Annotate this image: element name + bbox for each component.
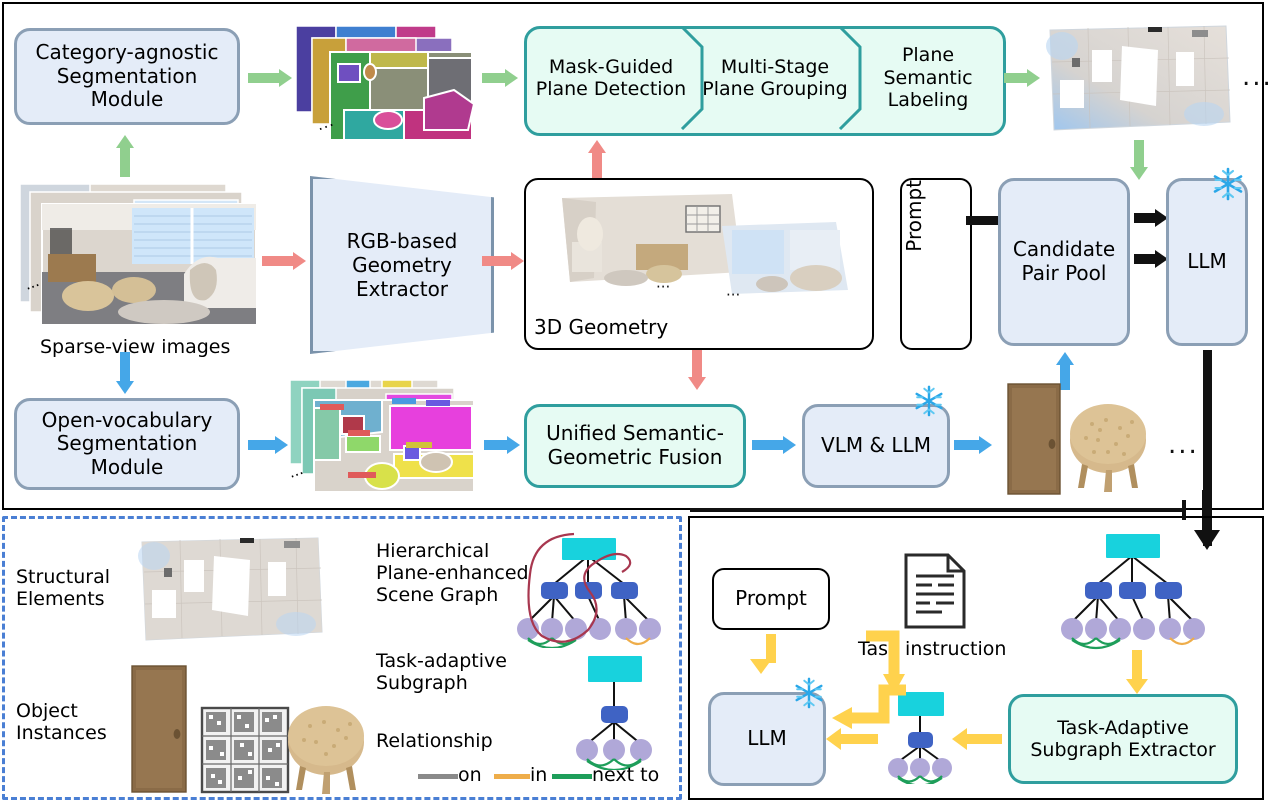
object-instances-legend-row: [128, 664, 368, 796]
arrow-green-down-1: [1130, 140, 1148, 180]
arrow-blue-right-2: [484, 436, 520, 454]
snowflake-icon-llm-top: [1210, 166, 1246, 206]
sparse-view-images-label: Sparse-view images: [40, 336, 230, 358]
arrow-red-up-1: [588, 140, 606, 178]
arrow-blue-right-3: [752, 436, 796, 454]
ellipsis-object-instances: ...: [1168, 432, 1199, 458]
relationship-name-in: in: [530, 764, 547, 786]
object-instances-label: Object Instances: [16, 700, 107, 744]
arrow-green-right-3: [1004, 69, 1040, 87]
arrow-blue-down-1: [116, 352, 134, 394]
prompt-label-top: Prompt: [902, 180, 926, 252]
unified-semantic-geometric-fusion[interactable]: Unified Semantic- Geometric Fusion: [524, 404, 746, 488]
relationship-name-on: on: [458, 764, 482, 786]
prompt-box-bottom[interactable]: Prompt: [712, 568, 830, 630]
scene-graph-figure-bottom: [1058, 528, 1228, 650]
arrow-green-right-1: [248, 69, 292, 87]
structural-plane-pointcloud-top: [1044, 22, 1234, 136]
arrow-yellow-left-2: [826, 728, 878, 750]
ellipsis-top-right: ...: [1242, 64, 1268, 90]
arrow-red-down-1: [688, 350, 706, 390]
arrow-red-right-2: [482, 252, 524, 270]
arrow-red-right-1: [262, 252, 306, 270]
document-icon: [902, 552, 968, 630]
snowflake-icon-vlm-llm: [912, 384, 946, 422]
task-adaptive-subgraph-extractor[interactable]: Task-Adaptive Subgraph Extractor: [1008, 694, 1238, 784]
arrow-blue-right-4: [954, 436, 992, 454]
connector-bracket-tick: [1182, 500, 1186, 520]
structural-elements-pointcloud: [136, 534, 326, 646]
stage-multi-stage-plane-grouping[interactable]: Multi-Stage Plane Grouping: [696, 26, 854, 130]
relationship-swatch-next-to: [552, 774, 592, 779]
svg-text:···: ···: [726, 286, 740, 302]
rgb-based-geometry-extractor[interactable]: RGB-based Geometry Extractor: [310, 176, 494, 354]
plane-pipeline-group: Mask-Guided Plane Detection Multi-Stage …: [524, 26, 1000, 130]
connector-bracket-horizontal: [690, 508, 1186, 512]
arrow-green-right-2: [482, 69, 518, 87]
arrow-blue-right-1: [248, 436, 288, 454]
sparse-view-image-stack: ···: [14, 178, 264, 328]
relationship-label: Relationship: [376, 730, 493, 752]
hierarchical-scene-graph-figure: [514, 528, 684, 648]
arrow-yellow-down-prompt: [762, 634, 780, 674]
relationship-swatch-in: [494, 774, 530, 779]
object-instances-row: [1000, 382, 1170, 496]
open-vocab-mask-image-stack: ···: [286, 380, 480, 494]
prompt-box-top[interactable]: Prompt: [900, 178, 972, 350]
arrow-yellow-down-graph: [1126, 650, 1148, 694]
candidate-pair-pool[interactable]: Candidate Pair Pool: [998, 178, 1130, 346]
structural-elements-label: Structural Elements: [16, 566, 110, 610]
stage-plane-semantic-labeling[interactable]: Plane Semantic Labeling: [860, 26, 996, 130]
arrow-black-right-2: [1134, 250, 1168, 268]
task-adaptive-subgraph-label: Task-adaptive Subgraph: [376, 650, 507, 694]
relationship-name-next-to: next to: [592, 764, 659, 786]
stage-mask-guided-plane-detection[interactable]: Mask-Guided Plane Detection: [528, 26, 694, 130]
snowflake-icon-llm-bottom: [792, 676, 826, 714]
category-agnostic-segmentation-module[interactable]: Category-agnostic Segmentation Module: [14, 28, 240, 125]
svg-text:···: ···: [656, 278, 670, 296]
3d-geometry-label: 3D Geometry: [534, 316, 668, 339]
relationship-legend: on in next to: [418, 762, 668, 790]
3d-geometry-mesh-stack: ··· ···: [536, 186, 856, 302]
arrow-black-right-1: [1134, 209, 1168, 227]
open-vocabulary-segmentation-module[interactable]: Open-vocabulary Segmentation Module: [14, 398, 240, 490]
hierarchical-scene-graph-label: Hierarchical Plane-enhanced Scene Graph: [376, 540, 529, 606]
segmentation-mask-image-stack: ···: [292, 24, 478, 144]
relationship-swatch-on: [418, 774, 458, 779]
task-adaptive-subgraph-figure: [555, 648, 675, 770]
figure-root: Category-agnostic Segmentation Module: [0, 0, 1268, 802]
arrow-green-up-1: [116, 135, 134, 177]
